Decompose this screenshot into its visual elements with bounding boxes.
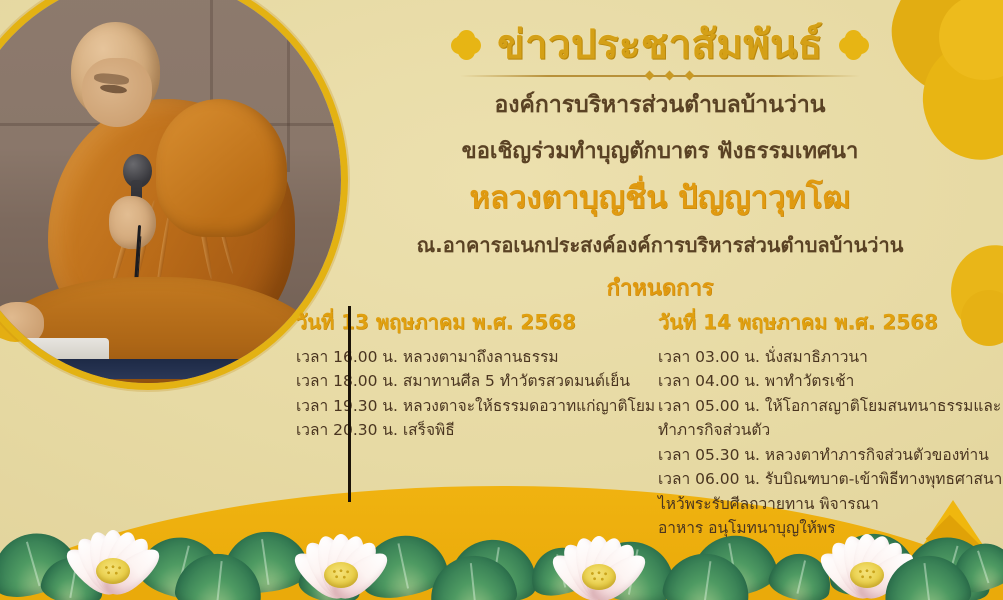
photo-wall-seam-vertical-2 [287, 0, 290, 172]
schedule-item-continuation: ทำภารกิจส่วนตัว [658, 418, 986, 442]
lotus-center [324, 562, 358, 588]
schedule-heading: กำหนดการ [330, 270, 990, 305]
day1-date-heading: วันที่ 13 พฤษภาคม พ.ศ. 2568 [296, 306, 618, 338]
monk-photo-image [0, 0, 341, 383]
lotus-center [582, 564, 616, 590]
schedule-item: เวลา 20.30 น. เสร็จพิธี [296, 418, 618, 442]
monk-robe-shoulder [156, 99, 287, 237]
invitation-line: ขอเชิญร่วมทำบุญตักบาตร ฟังธรรมเทศนา [330, 135, 990, 168]
organization-name: องค์การบริหารส่วนตำบลบ้านว่าน [330, 88, 990, 123]
schedule-item: เวลา 16.00 น. หลวงตามาถึงลานธรรม [296, 345, 618, 369]
schedule-item: เวลา 03.00 น. นั่งสมาธิภาวนา [658, 345, 986, 369]
monk-hand-holding-microphone [109, 196, 155, 249]
page-title: ข่าวประชาสัมพันธ์ [497, 22, 823, 68]
poster-header: ข่าวประชาสัมพันธ์ องค์การบริหารส่วนตำบลบ… [330, 22, 990, 305]
title-row: ข่าวประชาสัมพันธ์ [330, 22, 990, 68]
lotus-flower [276, 500, 406, 600]
schedule-item: เวลา 18.00 น. สมาทานศีล 5 ทำวัตรสวดมนต์เ… [296, 369, 618, 393]
announcement-poster: ข่าวประชาสัมพันธ์ องค์การบริหารส่วนตำบลบ… [0, 0, 1003, 600]
lotus-flower [48, 496, 178, 600]
schedule-item: เวลา 19.30 น. หลวงตาจะให้ธรรมดอวาทแก่ญาต… [296, 394, 618, 418]
venue-line: ณ.อาคารอเนกประสงค์องค์การบริหารส่วนตำบลบ… [330, 230, 990, 260]
schedule-item: เวลา 05.00 น. ให้โอกาสญาติโยมสนทนาธรรมแล… [658, 394, 986, 418]
monk-name: หลวงตาบุญชื่น ปัญญาวุทโฒ [330, 178, 990, 218]
lotus-decoration-layer [0, 460, 1003, 600]
schedule-item: เวลา 04.00 น. พาทำวัตรเช้า [658, 369, 986, 393]
lotus-center [96, 558, 130, 584]
lotus-center [850, 562, 884, 588]
lotus-flower [534, 502, 664, 600]
title-ornamental-divider [460, 70, 860, 82]
floor-strip [0, 359, 333, 379]
day2-date-heading: วันที่ 14 พฤษภาคม พ.ศ. 2568 [658, 306, 986, 338]
quatrefoil-flower-icon-right [839, 30, 869, 60]
quatrefoil-flower-icon-left [451, 30, 481, 60]
